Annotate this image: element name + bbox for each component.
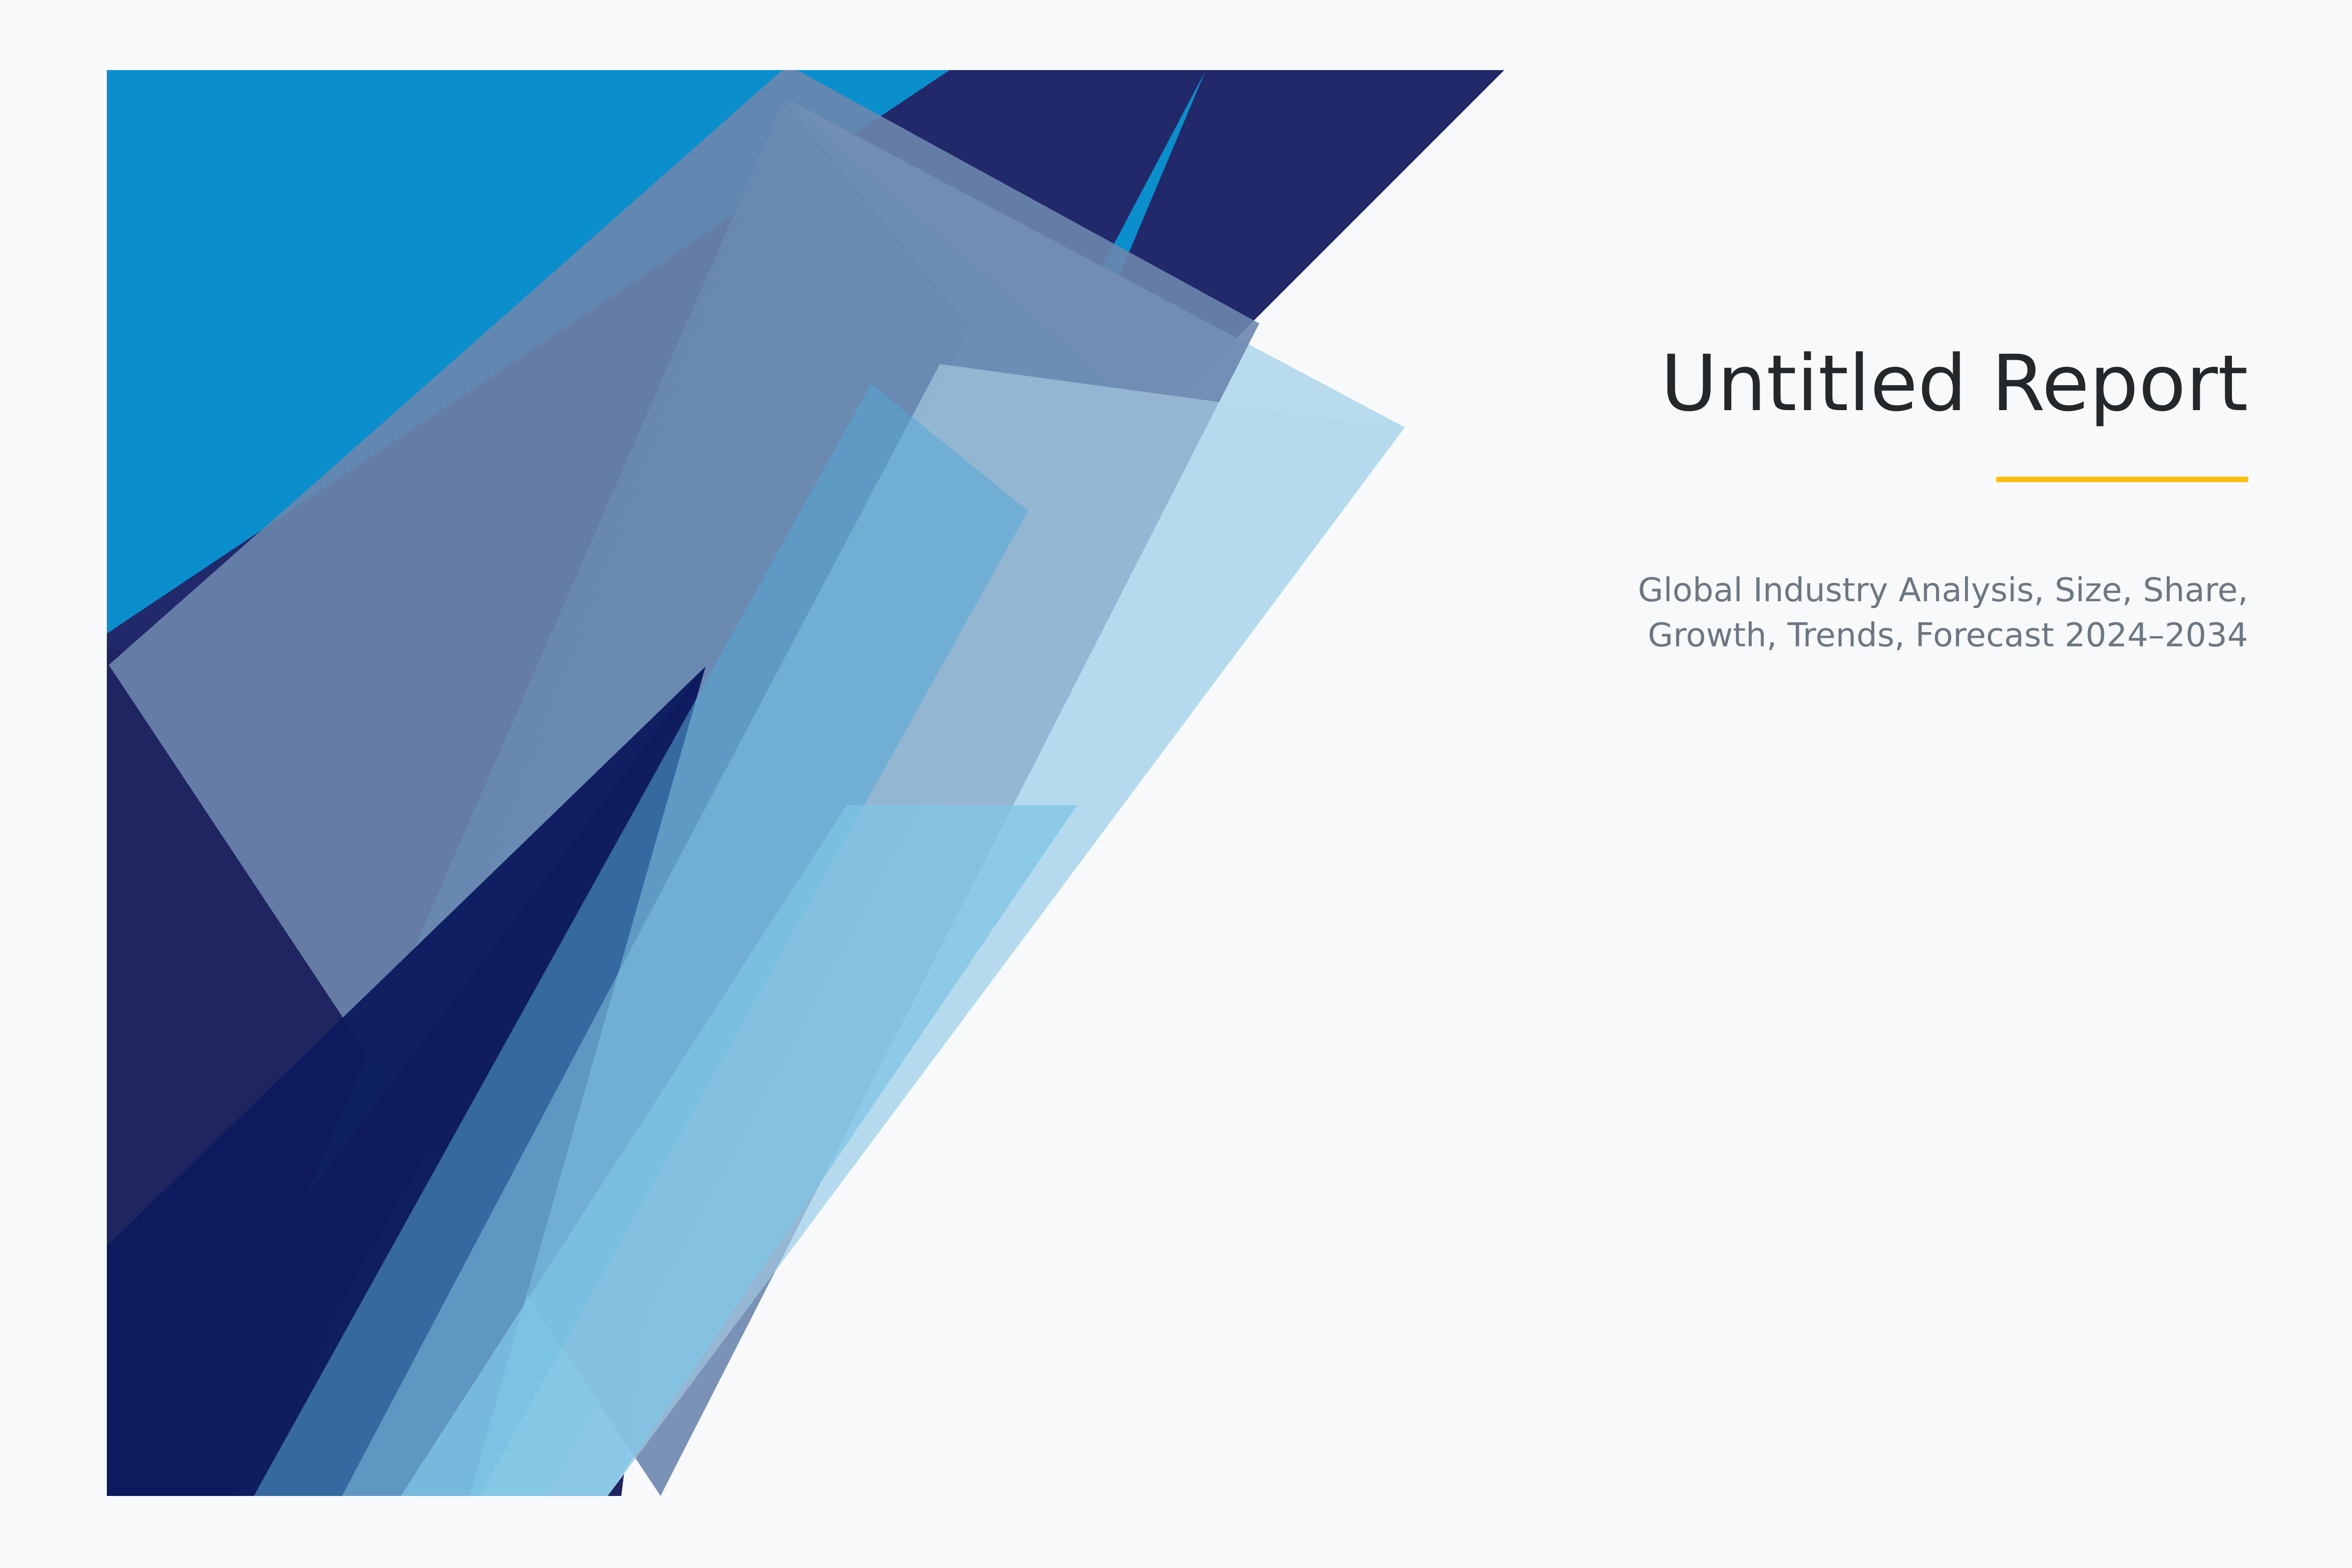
cover-text-block: Untitled Report Global Industry Analysis… bbox=[1588, 343, 2248, 658]
page-title: Untitled Report bbox=[1588, 343, 2248, 425]
accent-rule bbox=[1996, 477, 2248, 482]
page-subtitle: Global Industry Analysis, Size, Share, G… bbox=[1606, 568, 2248, 657]
abstract-geometric-cover-art bbox=[107, 70, 1533, 1496]
accent-rule-container bbox=[1588, 477, 2248, 482]
report-cover-page: Untitled Report Global Industry Analysis… bbox=[0, 0, 2352, 1568]
